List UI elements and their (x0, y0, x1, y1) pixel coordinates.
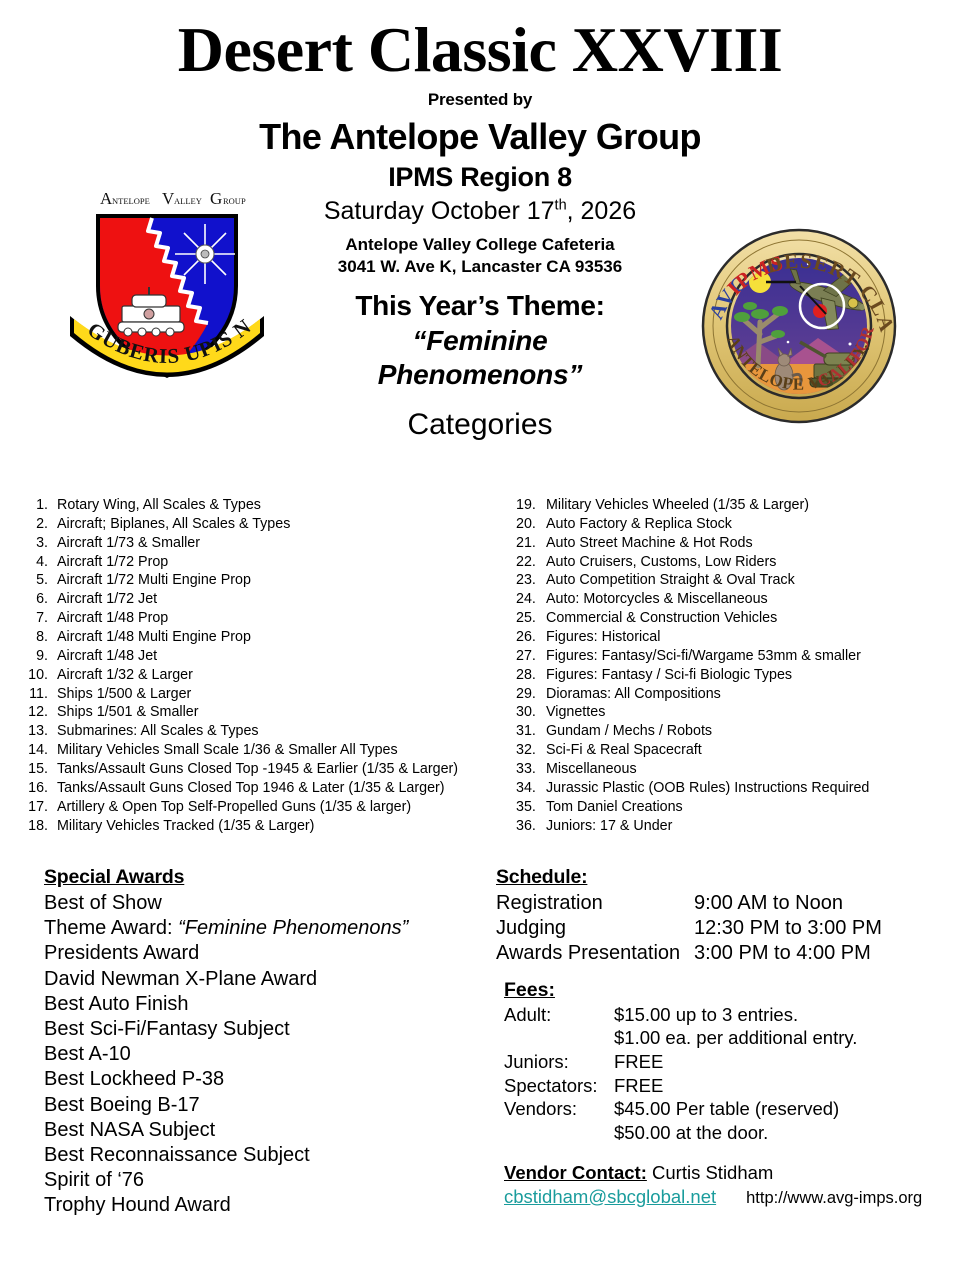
category-label: Aircraft 1/48 Multi Engine Prop (57, 628, 251, 647)
category-label: Figures: Historical (546, 628, 660, 647)
category-label: Aircraft 1/32 & Larger (57, 666, 193, 685)
category-label: Gundam / Mechs / Robots (546, 722, 712, 741)
special-award-item: David Newman X-Plane Award (44, 967, 488, 992)
category-row: 17.Artillery & Open Top Self-Propelled G… (14, 798, 500, 817)
special-award-item: Best Auto Finish (44, 992, 488, 1017)
website-url: http://www.avg-imps.org (746, 1189, 922, 1208)
category-number: 2. (14, 515, 57, 534)
category-row: 30.Vignettes (516, 703, 960, 722)
category-label: Juniors: 17 & Under (546, 817, 672, 836)
schedule-time: 9:00 AM to Noon (694, 891, 960, 916)
category-row: 4.Aircraft 1/72 Prop (14, 553, 500, 572)
category-number: 27. (516, 647, 546, 666)
fee-label: Vendors: (504, 1097, 614, 1121)
category-row: 29.Dioramas: All Compositions (516, 685, 960, 704)
fee-value: $50.00 at the door. (614, 1121, 960, 1145)
special-award-item: Best Lockheed P-38 (44, 1067, 488, 1092)
fee-label (504, 1121, 614, 1145)
schedule-list: Registration9:00 AM to NoonJudging12:30 … (496, 891, 960, 967)
schedule-activity: Registration (496, 891, 694, 916)
category-label: Aircraft 1/73 & Smaller (57, 534, 200, 553)
vendor-contact-line: Vendor Contact: Curtis Stidham (504, 1161, 960, 1185)
special-award-item: Best Boeing B-17 (44, 1093, 488, 1118)
special-award-label: Best NASA Subject (44, 1119, 215, 1141)
category-label: Submarines: All Scales & Types (57, 722, 259, 741)
fee-row: Adult:$15.00 up to 3 entries. (496, 1003, 960, 1027)
category-label: Rotary Wing, All Scales & Types (57, 496, 261, 515)
schedule-activity: Awards Presentation (496, 941, 694, 966)
fee-row: Juniors:FREE (496, 1050, 960, 1074)
category-row: 15.Tanks/Assault Guns Closed Top -1945 &… (14, 760, 500, 779)
fees-list: Adult:$15.00 up to 3 entries.$1.00 ea. p… (496, 1003, 960, 1145)
special-award-label: Theme Award: (44, 917, 178, 939)
category-number: 34. (516, 779, 546, 798)
event-date-year: , 2026 (567, 197, 637, 225)
fee-value: FREE (614, 1074, 960, 1098)
flyer-page: Desert Classic XXVIII Presented by The A… (0, 0, 960, 1280)
special-award-label: Presidents Award (44, 942, 199, 964)
category-number: 33. (516, 760, 546, 779)
special-award-item: Best Reconnaissance Subject (44, 1143, 488, 1168)
special-award-item: Trophy Hound Award (44, 1193, 488, 1218)
special-awards-section: Special Awards Best of ShowTheme Award: … (0, 866, 488, 1218)
category-label: Ships 1/500 & Larger (57, 685, 191, 704)
category-row: 7.Aircraft 1/48 Prop (14, 609, 500, 628)
vendor-contact-heading: Vendor Contact: (504, 1162, 647, 1183)
category-number: 29. (516, 685, 546, 704)
vendor-links: cbstidham@sbcglobal.net http://www.avg-i… (504, 1186, 960, 1208)
presented-by-label: Presented by (0, 90, 960, 110)
category-number: 11. (14, 685, 57, 704)
vendor-email-link[interactable]: cbstidham@sbcglobal.net (504, 1186, 716, 1208)
category-row: 16.Tanks/Assault Guns Closed Top 1946 & … (14, 779, 500, 798)
category-label: Aircraft; Biplanes, All Scales & Types (57, 515, 290, 534)
category-row: 33.Miscellaneous (516, 760, 960, 779)
category-number: 32. (516, 741, 546, 760)
category-number: 23. (516, 571, 546, 590)
bottom-section: Special Awards Best of ShowTheme Award: … (0, 866, 960, 1218)
category-number: 13. (14, 722, 57, 741)
category-row: 36.Juniors: 17 & Under (516, 817, 960, 836)
event-date-ordinal: th (555, 198, 567, 214)
vendor-contact-block: Vendor Contact: Curtis Stidham cbstidham… (496, 1161, 960, 1208)
schedule-activity: Judging (496, 916, 694, 941)
category-row: 9.Aircraft 1/48 Jet (14, 647, 500, 666)
category-label: Jurassic Plastic (OOB Rules) Instruction… (546, 779, 869, 798)
categories-section: 1.Rotary Wing, All Scales & Types2.Aircr… (0, 496, 960, 835)
schedule-fees-section: Schedule: Registration9:00 AM to NoonJud… (488, 866, 960, 1218)
fee-label (504, 1026, 614, 1050)
category-label: Ships 1/501 & Smaller (57, 703, 198, 722)
category-number: 28. (516, 666, 546, 685)
category-number: 31. (516, 722, 546, 741)
fee-row: $1.00 ea. per additional entry. (496, 1026, 960, 1050)
category-row: 11.Ships 1/500 & Larger (14, 685, 500, 704)
category-label: Dioramas: All Compositions (546, 685, 721, 704)
category-label: Aircraft 1/48 Jet (57, 647, 157, 666)
category-number: 15. (14, 760, 57, 779)
category-number: 1. (14, 496, 57, 515)
category-row: 14.Military Vehicles Small Scale 1/36 & … (14, 741, 500, 760)
special-award-label: Best of Show (44, 892, 162, 914)
category-row: 34.Jurassic Plastic (OOB Rules) Instruct… (516, 779, 960, 798)
category-row: 1.Rotary Wing, All Scales & Types (14, 496, 500, 515)
category-label: Auto Cruisers, Customs, Low Riders (546, 553, 776, 572)
category-row: 24.Auto: Motorcycles & Miscellaneous (516, 590, 960, 609)
category-row: 23.Auto Competition Straight & Oval Trac… (516, 571, 960, 590)
category-number: 24. (516, 590, 546, 609)
special-award-item: Best of Show (44, 891, 488, 916)
category-number: 12. (14, 703, 57, 722)
special-award-item: Best A-10 (44, 1042, 488, 1067)
category-number: 14. (14, 741, 57, 760)
avg-shield-logo: A NTELOPE V ALLEY G ROUP (62, 186, 272, 391)
category-row: 27.Figures: Fantasy/Sci-fi/Wargame 53mm … (516, 647, 960, 666)
fee-row: Vendors:$45.00 Per table (reserved) (496, 1097, 960, 1121)
category-label: Vignettes (546, 703, 605, 722)
category-label: Aircraft 1/72 Multi Engine Prop (57, 571, 251, 590)
category-number: 8. (14, 628, 57, 647)
category-row: 26.Figures: Historical (516, 628, 960, 647)
special-award-label: Spirit of ‘76 (44, 1169, 144, 1191)
category-row: 32.Sci-Fi & Real Spacecraft (516, 741, 960, 760)
category-number: 36. (516, 817, 546, 836)
category-row: 10.Aircraft 1/32 & Larger (14, 666, 500, 685)
fee-row: $50.00 at the door. (496, 1121, 960, 1145)
category-label: Aircraft 1/72 Prop (57, 553, 168, 572)
special-award-label: Best Boeing B-17 (44, 1094, 200, 1116)
category-number: 30. (516, 703, 546, 722)
category-number: 19. (516, 496, 546, 515)
special-award-item: Spirit of ‘76 (44, 1168, 488, 1193)
category-label: Aircraft 1/48 Prop (57, 609, 168, 628)
category-number: 7. (14, 609, 57, 628)
category-row: 28.Figures: Fantasy / Sci-fi Biologic Ty… (516, 666, 960, 685)
desert-classic-medallion: AVG IPMS DESERT CLASSIC ANTELOPE VALLEY,… (688, 214, 910, 432)
special-award-label: David Newman X-Plane Award (44, 968, 317, 990)
category-number: 3. (14, 534, 57, 553)
category-row: 21.Auto Street Machine & Hot Rods (516, 534, 960, 553)
category-label: Military Vehicles Small Scale 1/36 & Sma… (57, 741, 398, 760)
category-row: 18.Military Vehicles Tracked (1/35 & Lar… (14, 817, 500, 836)
category-row: 31.Gundam / Mechs / Robots (516, 722, 960, 741)
fee-label: Adult: (504, 1003, 614, 1027)
category-label: Commercial & Construction Vehicles (546, 609, 777, 628)
category-label: Figures: Fantasy / Sci-fi Biologic Types (546, 666, 792, 685)
category-row: 3.Aircraft 1/73 & Smaller (14, 534, 500, 553)
svg-text:G: G (210, 189, 222, 208)
fees-heading: Fees: (496, 979, 960, 1002)
vendor-contact-name: Curtis Stidham (652, 1162, 773, 1183)
category-number: 18. (14, 817, 57, 836)
category-row: 12.Ships 1/501 & Smaller (14, 703, 500, 722)
fee-label: Juniors: (504, 1050, 614, 1074)
special-award-item: Presidents Award (44, 941, 488, 966)
category-label: Aircraft 1/72 Jet (57, 590, 157, 609)
fee-value: $1.00 ea. per additional entry. (614, 1026, 960, 1050)
category-label: Artillery & Open Top Self-Propelled Guns… (57, 798, 411, 817)
category-row: 20.Auto Factory & Replica Stock (516, 515, 960, 534)
category-number: 6. (14, 590, 57, 609)
svg-text:NTELOPE: NTELOPE (112, 196, 150, 206)
category-label: Sci-Fi & Real Spacecraft (546, 741, 702, 760)
fee-row: Spectators:FREE (496, 1074, 960, 1098)
svg-text:ROUP: ROUP (223, 196, 246, 206)
category-label: Figures: Fantasy/Sci-fi/Wargame 53mm & s… (546, 647, 861, 666)
special-award-label: Best Reconnaissance Subject (44, 1144, 310, 1166)
fee-value: $15.00 up to 3 entries. (614, 1003, 960, 1027)
schedule-row: Awards Presentation3:00 PM to 4:00 PM (496, 941, 960, 966)
category-number: 16. (14, 779, 57, 798)
category-row: 19.Military Vehicles Wheeled (1/35 & Lar… (516, 496, 960, 515)
fee-value: FREE (614, 1050, 960, 1074)
svg-text:ALLEY: ALLEY (174, 196, 202, 206)
category-number: 17. (14, 798, 57, 817)
fee-value: $45.00 Per table (reserved) (614, 1097, 960, 1121)
category-row: 35.Tom Daniel Creations (516, 798, 960, 817)
category-row: 6.Aircraft 1/72 Jet (14, 590, 500, 609)
category-number: 4. (14, 553, 57, 572)
category-row: 25.Commercial & Construction Vehicles (516, 609, 960, 628)
category-label: Auto Street Machine & Hot Rods (546, 534, 753, 553)
special-awards-list: Best of ShowTheme Award: “Feminine Pheno… (44, 891, 488, 1218)
special-award-item: Best Sci-Fi/Fantasy Subject (44, 1017, 488, 1042)
event-date-main: Saturday October 17 (324, 197, 555, 225)
special-award-label: Trophy Hound Award (44, 1194, 231, 1216)
category-number: 10. (14, 666, 57, 685)
special-awards-heading: Special Awards (44, 866, 488, 889)
special-award-label: Best A-10 (44, 1043, 131, 1065)
category-label: Tanks/Assault Guns Closed Top -1945 & Ea… (57, 760, 458, 779)
category-row: 8.Aircraft 1/48 Multi Engine Prop (14, 628, 500, 647)
schedule-heading: Schedule: (496, 866, 960, 889)
special-award-label: Best Sci-Fi/Fantasy Subject (44, 1018, 290, 1040)
category-number: 9. (14, 647, 57, 666)
schedule-time: 12:30 PM to 3:00 PM (694, 916, 960, 941)
schedule-row: Judging12:30 PM to 3:00 PM (496, 916, 960, 941)
categories-column-right: 19.Military Vehicles Wheeled (1/35 & Lar… (500, 496, 960, 835)
special-award-item: Best NASA Subject (44, 1118, 488, 1143)
schedule-row: Registration9:00 AM to Noon (496, 891, 960, 916)
group-name: The Antelope Valley Group (0, 116, 960, 158)
category-row: 2.Aircraft; Biplanes, All Scales & Types (14, 515, 500, 534)
category-row: 22.Auto Cruisers, Customs, Low Riders (516, 553, 960, 572)
category-label: Military Vehicles Wheeled (1/35 & Larger… (546, 496, 809, 515)
categories-column-left: 1.Rotary Wing, All Scales & Types2.Aircr… (0, 496, 500, 835)
category-row: 5.Aircraft 1/72 Multi Engine Prop (14, 571, 500, 590)
category-label: Military Vehicles Tracked (1/35 & Larger… (57, 817, 314, 836)
fee-label: Spectators: (504, 1074, 614, 1098)
category-label: Auto: Motorcycles & Miscellaneous (546, 590, 768, 609)
page-title: Desert Classic XXVIII (0, 0, 960, 82)
category-number: 5. (14, 571, 57, 590)
special-award-item: Theme Award: “Feminine Phenomenons” (44, 916, 488, 941)
category-label: Miscellaneous (546, 760, 637, 779)
special-award-label: Best Auto Finish (44, 993, 189, 1015)
category-label: Auto Competition Straight & Oval Track (546, 571, 795, 590)
category-number: 25. (516, 609, 546, 628)
category-label: Tanks/Assault Guns Closed Top 1946 & Lat… (57, 779, 445, 798)
category-number: 35. (516, 798, 546, 817)
category-number: 20. (516, 515, 546, 534)
category-label: Tom Daniel Creations (546, 798, 683, 817)
category-number: 22. (516, 553, 546, 572)
category-number: 21. (516, 534, 546, 553)
category-number: 26. (516, 628, 546, 647)
category-row: 13.Submarines: All Scales & Types (14, 722, 500, 741)
special-award-theme-value: “Feminine Phenomenons” (178, 917, 408, 939)
schedule-time: 3:00 PM to 4:00 PM (694, 941, 960, 966)
special-award-label: Best Lockheed P-38 (44, 1068, 224, 1090)
category-label: Auto Factory & Replica Stock (546, 515, 732, 534)
